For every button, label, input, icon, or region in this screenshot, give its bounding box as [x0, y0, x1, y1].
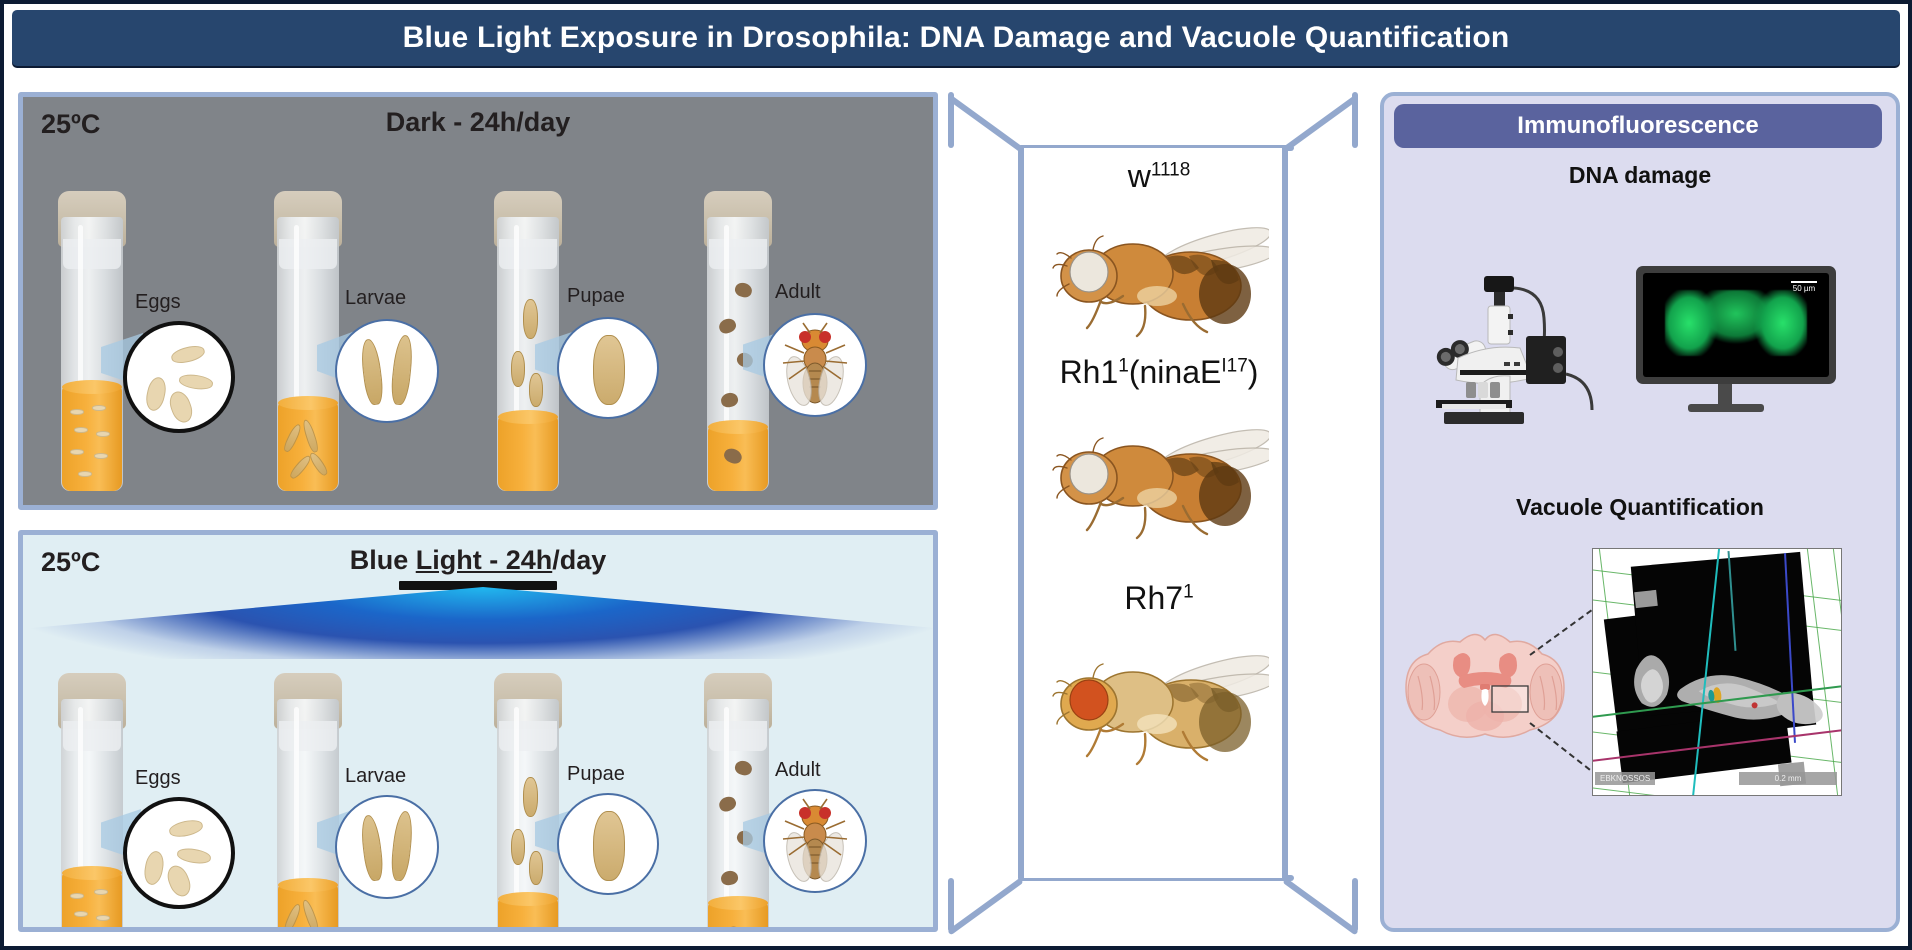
- vial-row-dark: Eggs: [23, 181, 938, 510]
- culture-vial: [707, 673, 769, 932]
- culture-vial: [277, 673, 339, 932]
- stage-label-pupae: Pupae: [567, 763, 625, 786]
- webknossos-3d-view: EBKNOSSOS 0.2 mm: [1592, 548, 1842, 796]
- vial-row-blue-light: Eggs: [23, 663, 938, 932]
- genotype-superscript: 1118: [1151, 159, 1190, 180]
- scale-bar-line: [1791, 281, 1817, 283]
- microscope-illustration: [1422, 274, 1632, 424]
- webknossos-watermark: EBKNOSSOS: [1595, 772, 1655, 785]
- genotype-superscript: 1: [1118, 355, 1129, 376]
- immunofluorescence-panel: Immunofluorescence DNA damage: [1380, 92, 1900, 932]
- vial-cap-inner: [499, 721, 557, 751]
- vial-cap-inner: [279, 239, 337, 269]
- stage-label-larvae: Larvae: [345, 287, 406, 310]
- vial-food: [62, 387, 122, 491]
- culture-vial: [61, 673, 123, 932]
- vial-food: [708, 903, 768, 932]
- funnel-diagonal-bottom-right: [1282, 878, 1358, 936]
- genotype-superscript: 1: [1183, 581, 1194, 602]
- section-title-vacuole-quantification: Vacuole Quantification: [1384, 494, 1896, 521]
- magnified-view-eggs: [123, 797, 235, 909]
- magnified-view-pupae: [557, 317, 659, 419]
- magnified-view-eggs: [123, 321, 235, 433]
- genotype-label-rh1-ninaE: Rh11(ninaEI17): [1024, 354, 1294, 391]
- condition-panel-blue-light: 25ºC Blue Light - 24h/day: [18, 530, 938, 932]
- genotype-superscript-2: I17: [1221, 355, 1247, 376]
- stage-label-adult: Adult: [775, 281, 821, 304]
- magnified-view-larvae: [335, 319, 439, 423]
- genotypes-box: w1118: [1018, 148, 1288, 878]
- condition-title-blue-light: Blue Light - 24h/day: [23, 545, 933, 576]
- immunofluorescence-header: Immunofluorescence: [1394, 104, 1882, 148]
- adult-fly-icon: [765, 315, 865, 415]
- blue-light-cone: [23, 587, 938, 659]
- section-title-dna-damage: DNA damage: [1384, 162, 1896, 189]
- vial-cap-inner: [63, 239, 121, 269]
- immunofluorescence-title: Immunofluorescence: [1517, 112, 1758, 140]
- fluorescence-image: 50 µm: [1643, 273, 1829, 377]
- genotype-mid: (ninaE: [1129, 354, 1222, 390]
- monitor-screen: 50 µm: [1636, 266, 1836, 384]
- fly-brain-diagram: [1396, 632, 1574, 742]
- funnel-edge-bottom-right: [1352, 878, 1358, 932]
- figure-root: Blue Light Exposure in Drosophila: DNA D…: [0, 0, 1912, 950]
- vial-food: [278, 403, 338, 491]
- funnel-diagonal-bottom-left: [947, 878, 1023, 936]
- magnified-view-adult: [763, 789, 867, 893]
- fly-illustration-rh1: [1049, 402, 1269, 542]
- genotype-label-rh7: Rh71: [1024, 580, 1294, 617]
- scale-bar-dna-damage: 50 µm: [1791, 281, 1817, 293]
- genotype-label-w1118: w1118: [1024, 158, 1294, 195]
- genotypes-funnel: w1118: [948, 92, 1358, 932]
- vial-group-larvae-dark: Larvae: [253, 181, 483, 501]
- funnel-diagonal-top-right: [1282, 95, 1358, 153]
- vial-group-adult-dark: Adult: [683, 181, 913, 501]
- funnel-edge-bottom-left: [948, 878, 954, 932]
- figure-title-bar: Blue Light Exposure in Drosophila: DNA D…: [12, 10, 1900, 66]
- vial-cap-inner: [709, 239, 767, 269]
- culture-vial: [497, 673, 559, 932]
- adult-fly-icon: [765, 791, 865, 891]
- condition-title-dark: Dark - 24h/day: [23, 107, 933, 138]
- genotype-base: Rh1: [1060, 354, 1119, 390]
- blue-light-label-prefix: Blue: [350, 545, 416, 575]
- figure-title: Blue Light Exposure in Drosophila: DNA D…: [403, 21, 1510, 55]
- magnified-view-pupae: [557, 793, 659, 895]
- magnified-view-adult: [763, 313, 867, 417]
- vial-food: [708, 427, 768, 491]
- funnel-diagonal-top-left: [947, 95, 1023, 153]
- vial-group-adult-blue: Adult: [683, 663, 913, 932]
- vial-cap-inner: [63, 721, 121, 751]
- stage-label-eggs: Eggs: [135, 767, 181, 790]
- stage-label-adult: Adult: [775, 759, 821, 782]
- vial-food: [278, 885, 338, 932]
- stage-label-pupae: Pupae: [567, 285, 625, 308]
- monitor-dna-damage: 50 µm: [1636, 266, 1836, 416]
- culture-vial: [61, 191, 123, 491]
- monitor-stand: [1718, 384, 1732, 406]
- vial-group-larvae-blue: Larvae: [253, 663, 483, 932]
- fly-illustration-w1118: [1049, 200, 1269, 340]
- vial-food: [498, 417, 558, 491]
- vial-group-pupae-dark: Pupae: [473, 181, 703, 501]
- condition-panel-dark: 25ºC Dark - 24h/day: [18, 92, 938, 510]
- genotype-base: w: [1128, 158, 1151, 194]
- vial-food: [498, 899, 558, 932]
- blue-light-label-underlined: Light - 24h: [416, 545, 553, 575]
- vial-food: [62, 873, 122, 932]
- genotype-base: Rh7: [1124, 580, 1183, 616]
- vial-cap-inner: [279, 721, 337, 751]
- scale-bar-label: 50 µm: [1793, 284, 1815, 293]
- fly-illustration-rh7: [1049, 628, 1269, 768]
- blue-light-label-suffix: /day: [552, 545, 606, 575]
- genotype-tail: ): [1248, 354, 1259, 390]
- vial-group-pupae-blue: Pupae: [473, 663, 703, 932]
- brain-fluorescence: [1665, 290, 1806, 357]
- vial-group-eggs-blue: Eggs: [37, 663, 267, 932]
- magnified-view-larvae: [335, 795, 439, 899]
- vial-cap-inner: [709, 721, 767, 751]
- stage-label-eggs: Eggs: [135, 291, 181, 314]
- rearing-conditions-column: 25ºC Dark - 24h/day: [18, 92, 938, 932]
- vial-cap-inner: [499, 239, 557, 269]
- monitor-base: [1688, 404, 1764, 412]
- vial-group-eggs-dark: Eggs: [37, 181, 267, 501]
- scale-bar-vacuole: 0.2 mm: [1739, 772, 1837, 785]
- stage-label-larvae: Larvae: [345, 765, 406, 788]
